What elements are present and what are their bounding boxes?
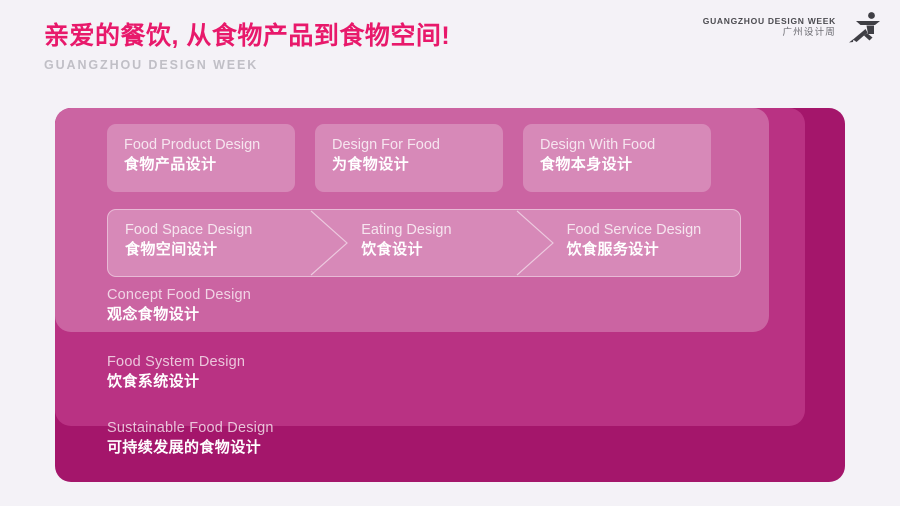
brand-logo: GUANGZHOU DESIGN WEEK 广州设计周: [703, 8, 884, 48]
logo-english-name: GUANGZHOU DESIGN WEEK: [703, 16, 836, 27]
chevron-label-en: Food Service Design: [567, 221, 740, 239]
chevron-label-cn: 饮食设计: [361, 240, 534, 260]
card-food-product-design[interactable]: Food Product Design 食物产品设计: [107, 124, 295, 192]
band-label-concept-food-design: Concept Food Design 观念食物设计: [107, 286, 251, 325]
band-label-en: Sustainable Food Design: [107, 419, 274, 437]
chevron-step-eating-design[interactable]: Eating Design 饮食设计: [329, 210, 534, 276]
running-figure-icon: [844, 8, 884, 48]
chevron-label-cn: 饮食服务设计: [567, 240, 740, 260]
card-label-en: Design With Food: [540, 136, 711, 154]
page-subtitle: GUANGZHOU DESIGN WEEK: [44, 58, 870, 72]
card-label-en: Food Product Design: [124, 136, 295, 154]
band-label-sustainable-food-design: Sustainable Food Design 可持续发展的食物设计: [107, 419, 274, 458]
food-design-hierarchy-diagram: Food Product Design 食物产品设计 Design For Fo…: [55, 108, 845, 482]
band-label-cn: 观念食物设计: [107, 305, 251, 325]
chevron-step-food-space-design[interactable]: Food Space Design 食物空间设计: [108, 210, 329, 276]
design-card-row-top: Food Product Design 食物产品设计 Design For Fo…: [107, 124, 711, 192]
band-label-en: Concept Food Design: [107, 286, 251, 304]
card-label-cn: 为食物设计: [332, 155, 503, 175]
logo-text-block: GUANGZHOU DESIGN WEEK 广州设计周: [703, 16, 836, 40]
card-label-cn: 食物本身设计: [540, 155, 711, 175]
band-label-cn: 可持续发展的食物设计: [107, 438, 274, 458]
chevron-label-en: Eating Design: [361, 221, 534, 239]
chevron-step-food-service-design[interactable]: Food Service Design 饮食服务设计: [535, 210, 740, 276]
card-design-with-food[interactable]: Design With Food 食物本身设计: [523, 124, 711, 192]
card-label-en: Design For Food: [332, 136, 503, 154]
design-process-row-chevron: Food Space Design 食物空间设计 Eating Design 饮…: [107, 209, 741, 277]
band-label-food-system-design: Food System Design 饮食系统设计: [107, 353, 245, 392]
card-label-cn: 食物产品设计: [124, 155, 295, 175]
chevron-label-cn: 食物空间设计: [125, 240, 329, 260]
card-design-for-food[interactable]: Design For Food 为食物设计: [315, 124, 503, 192]
chevron-label-en: Food Space Design: [125, 221, 329, 239]
band-label-en: Food System Design: [107, 353, 245, 371]
logo-chinese-name: 广州设计周: [703, 27, 836, 40]
band-label-cn: 饮食系统设计: [107, 372, 245, 392]
